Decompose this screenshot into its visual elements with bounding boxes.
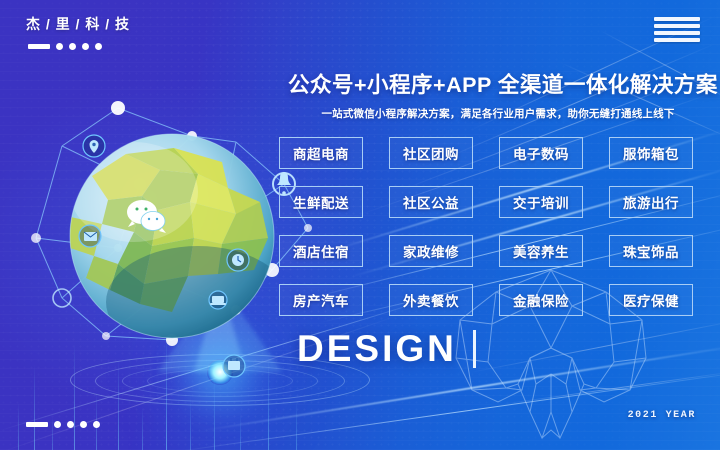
category-tag[interactable]: 酒店住宿 bbox=[279, 235, 363, 267]
category-tag[interactable]: 服饰箱包 bbox=[609, 137, 693, 169]
design-wordmark: DESIGN bbox=[297, 328, 476, 370]
page-subtitle: 一站式微信小程序解决方案，满足各行业用户需求，助你无缝打通线上线下 bbox=[288, 106, 708, 121]
design-text: DESIGN bbox=[297, 328, 457, 370]
logo-dot bbox=[56, 43, 63, 50]
menu-bar bbox=[654, 24, 700, 28]
category-tag-grid: 商超电商 社区团购 电子数码 服饰箱包 生鲜配送 社区公益 交于培训 旅游出行 … bbox=[279, 137, 693, 316]
logo-dot bbox=[95, 43, 102, 50]
menu-bar bbox=[654, 38, 700, 42]
category-tag[interactable]: 商超电商 bbox=[279, 137, 363, 169]
footer-marks bbox=[26, 421, 100, 428]
category-tag[interactable]: 交于培训 bbox=[499, 186, 583, 218]
footer-dot bbox=[93, 421, 100, 428]
headline-block: 公众号+小程序+APP 全渠道一体化解决方案 一站式微信小程序解决方案，满足各行… bbox=[288, 68, 708, 121]
brand-logo-text: 杰 / 里 / 科 / 技 bbox=[26, 14, 130, 34]
category-tag[interactable]: 房产汽车 bbox=[279, 284, 363, 316]
promo-poster: 杰 / 里 / 科 / 技 公众号+小程序+APP 全渠道一体化解决方案 一站式… bbox=[0, 0, 720, 450]
menu-bar bbox=[654, 17, 700, 21]
category-tag[interactable]: 珠宝饰品 bbox=[609, 235, 693, 267]
page-title: 公众号+小程序+APP 全渠道一体化解决方案 bbox=[288, 68, 708, 99]
category-tag[interactable]: 生鲜配送 bbox=[279, 186, 363, 218]
brand-logo[interactable]: 杰 / 里 / 科 / 技 bbox=[26, 14, 130, 50]
category-tag[interactable]: 金融保险 bbox=[499, 284, 583, 316]
logo-dash bbox=[28, 44, 50, 49]
category-tag[interactable]: 外卖餐饮 bbox=[389, 284, 473, 316]
category-tag[interactable]: 美容养生 bbox=[499, 235, 583, 267]
logo-dot bbox=[82, 43, 89, 50]
category-tag[interactable]: 家政维修 bbox=[389, 235, 473, 267]
logo-marks bbox=[28, 43, 130, 50]
category-tag[interactable]: 电子数码 bbox=[499, 137, 583, 169]
category-tag[interactable]: 医疗保健 bbox=[609, 284, 693, 316]
menu-bar bbox=[654, 31, 700, 35]
category-tag[interactable]: 社区公益 bbox=[389, 186, 473, 218]
category-tag[interactable]: 旅游出行 bbox=[609, 186, 693, 218]
footer-dot bbox=[67, 421, 74, 428]
hamburger-menu-icon[interactable] bbox=[654, 17, 700, 42]
footer-dot bbox=[54, 421, 61, 428]
year-label: 2021 YEAR bbox=[628, 410, 696, 421]
logo-dot bbox=[69, 43, 76, 50]
design-divider-bar bbox=[473, 330, 476, 368]
category-tag[interactable]: 社区团购 bbox=[389, 137, 473, 169]
footer-dot bbox=[80, 421, 87, 428]
footer-dash bbox=[26, 422, 48, 427]
